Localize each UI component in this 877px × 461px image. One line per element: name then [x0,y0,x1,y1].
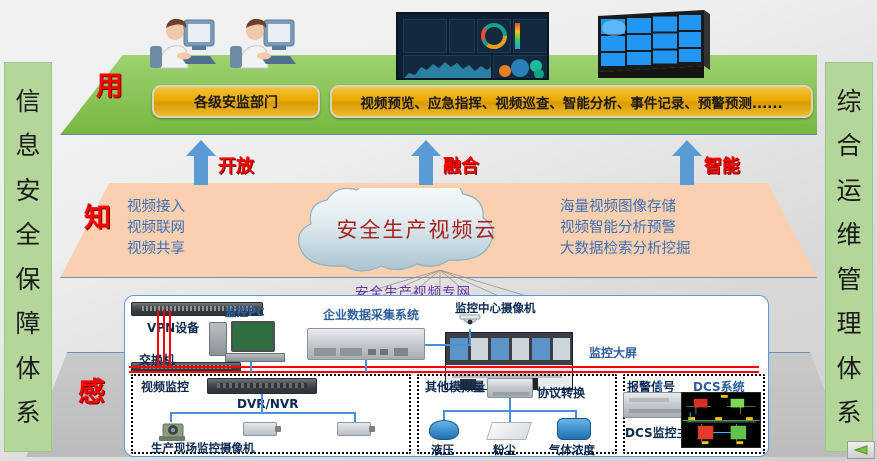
diagram-stage: 用 知 感 [0,0,877,461]
device-label-monitoring-pc: 监控PC [225,304,265,320]
pc-tower-icon [209,322,227,356]
keyboard-icon [225,353,285,362]
group-title-analog-signals: 其他模拟量 [425,378,485,395]
cloud-right-item: 海量视频图像存储 [560,197,691,218]
pillar-right-char: 合 [836,133,861,158]
arrow-label-open: 开放 [218,152,254,178]
functions-box[interactable]: 视频预览、应急指挥、视频巡查、智能分析、事件记录、预警预测...... [330,85,813,118]
dome-camera-icon [458,314,482,330]
link-line-blue [509,410,511,422]
cloud-left-item: 视频联网 [127,218,185,239]
hydraulic-sensor-icon [429,420,459,440]
arrow-up-icon [186,140,216,185]
cloud-right-item: 视频智能分析预警 [560,218,691,239]
arrow-up-icon [411,140,441,185]
device-label-site-cameras: 生产现场监控摄像机 [151,440,255,456]
group-title-video-surveillance: 视频监控 [141,378,189,395]
pillar-left-char: 体 [15,356,40,381]
pillar-left-char: 保 [15,267,40,292]
link-line-blue [261,402,263,412]
device-label-vpn: VPN设备 [147,319,199,336]
device-label-data-acquisition: 企业数据采集系统 [323,306,419,323]
pillar-operations-management: 综 合 运 维 管 理 体 系 [825,62,873,452]
device-label-dvr: DVR/NVR [237,397,298,411]
arrow-label-smart: 智能 [704,152,740,178]
analytics-dashboard-icon [396,12,549,80]
protocol-converter-icon [487,378,533,398]
ptz-camera-icon [155,418,191,442]
dust-sensor-icon [486,422,532,440]
link-line-blue [170,412,356,414]
pillar-right-char: 运 [836,178,861,203]
pillar-right-char: 理 [836,311,861,336]
link-line-blue [354,412,356,422]
device-label-dust: 粉尘 [493,442,516,457]
pillar-left-char: 全 [15,222,40,247]
video-wall-icon [592,8,714,80]
bus-line-red [157,310,159,368]
data-acquisition-box-icon [307,328,425,360]
cloud-left-capabilities: 视频接入 视频联网 视频共享 [127,197,185,260]
operator-workstation-icon [148,12,220,74]
pillar-left-char: 障 [15,311,40,336]
pillar-right-char: 维 [836,222,861,247]
device-label-gas: 气体浓度 [549,442,595,457]
pillar-information-security: 信 息 安 全 保 障 体 系 [4,62,52,452]
pc-monitor-icon [231,321,275,352]
link-line-blue [365,360,367,372]
cloud-left-item: 视频共享 [127,239,185,260]
green-arrow-icon [853,445,869,455]
link-line-blue [469,329,471,346]
gas-sensor-icon [557,418,591,440]
pillar-left-char: 信 [15,89,40,114]
dvr-icon [207,378,317,394]
arrow-up-icon [672,140,702,185]
operator-workstation-icon [228,12,300,74]
arrow-label-converge: 融合 [443,152,479,178]
corner-tab[interactable] [847,441,875,459]
layer-label-sense: 感 [78,370,106,409]
dcs-scada-screen-icon [681,392,761,448]
pillar-right-char: 管 [836,267,861,292]
pillar-right-char: 综 [836,89,861,114]
link-line-blue [659,380,661,392]
layer-label-use: 用 [96,64,124,103]
pillar-left-char: 息 [15,133,40,158]
bus-line-red [163,310,165,368]
link-line-blue [250,362,252,372]
cloud-left-item: 视频接入 [127,197,185,218]
device-label-protocol-converter: 协议转换 [537,384,585,401]
link-line-blue [509,398,511,410]
bullet-camera-icon [243,422,277,436]
device-label-hydraulic: 液压 [431,442,454,457]
infrastructure-panel: VPN设备 交换机 监控PC 企业数据采集系统 监控中心摄像机 [124,295,769,457]
cloud-right-item: 大数据检索分析挖掘 [560,239,691,260]
pillar-right-char: 体 [836,356,861,381]
departments-box[interactable]: 各级安监部门 [152,85,320,118]
cloud-title: 安全生产视频云 [283,214,551,244]
link-line-blue [425,344,471,346]
bus-line-red [129,366,759,368]
layer-label-know: 知 [84,196,112,235]
link-line-blue [261,394,263,402]
bus-line-red [169,310,171,368]
device-label-big-screen: 监控大屏 [589,344,637,361]
bullet-camera-icon [337,422,371,436]
pillar-right-char: 系 [836,400,861,425]
pillar-left-char: 系 [15,400,40,425]
pillar-left-char: 安 [15,178,40,203]
cloud-right-capabilities: 海量视频图像存储 视频智能分析预警 大数据检索分析挖掘 [560,197,691,260]
bus-line-red [129,371,759,373]
